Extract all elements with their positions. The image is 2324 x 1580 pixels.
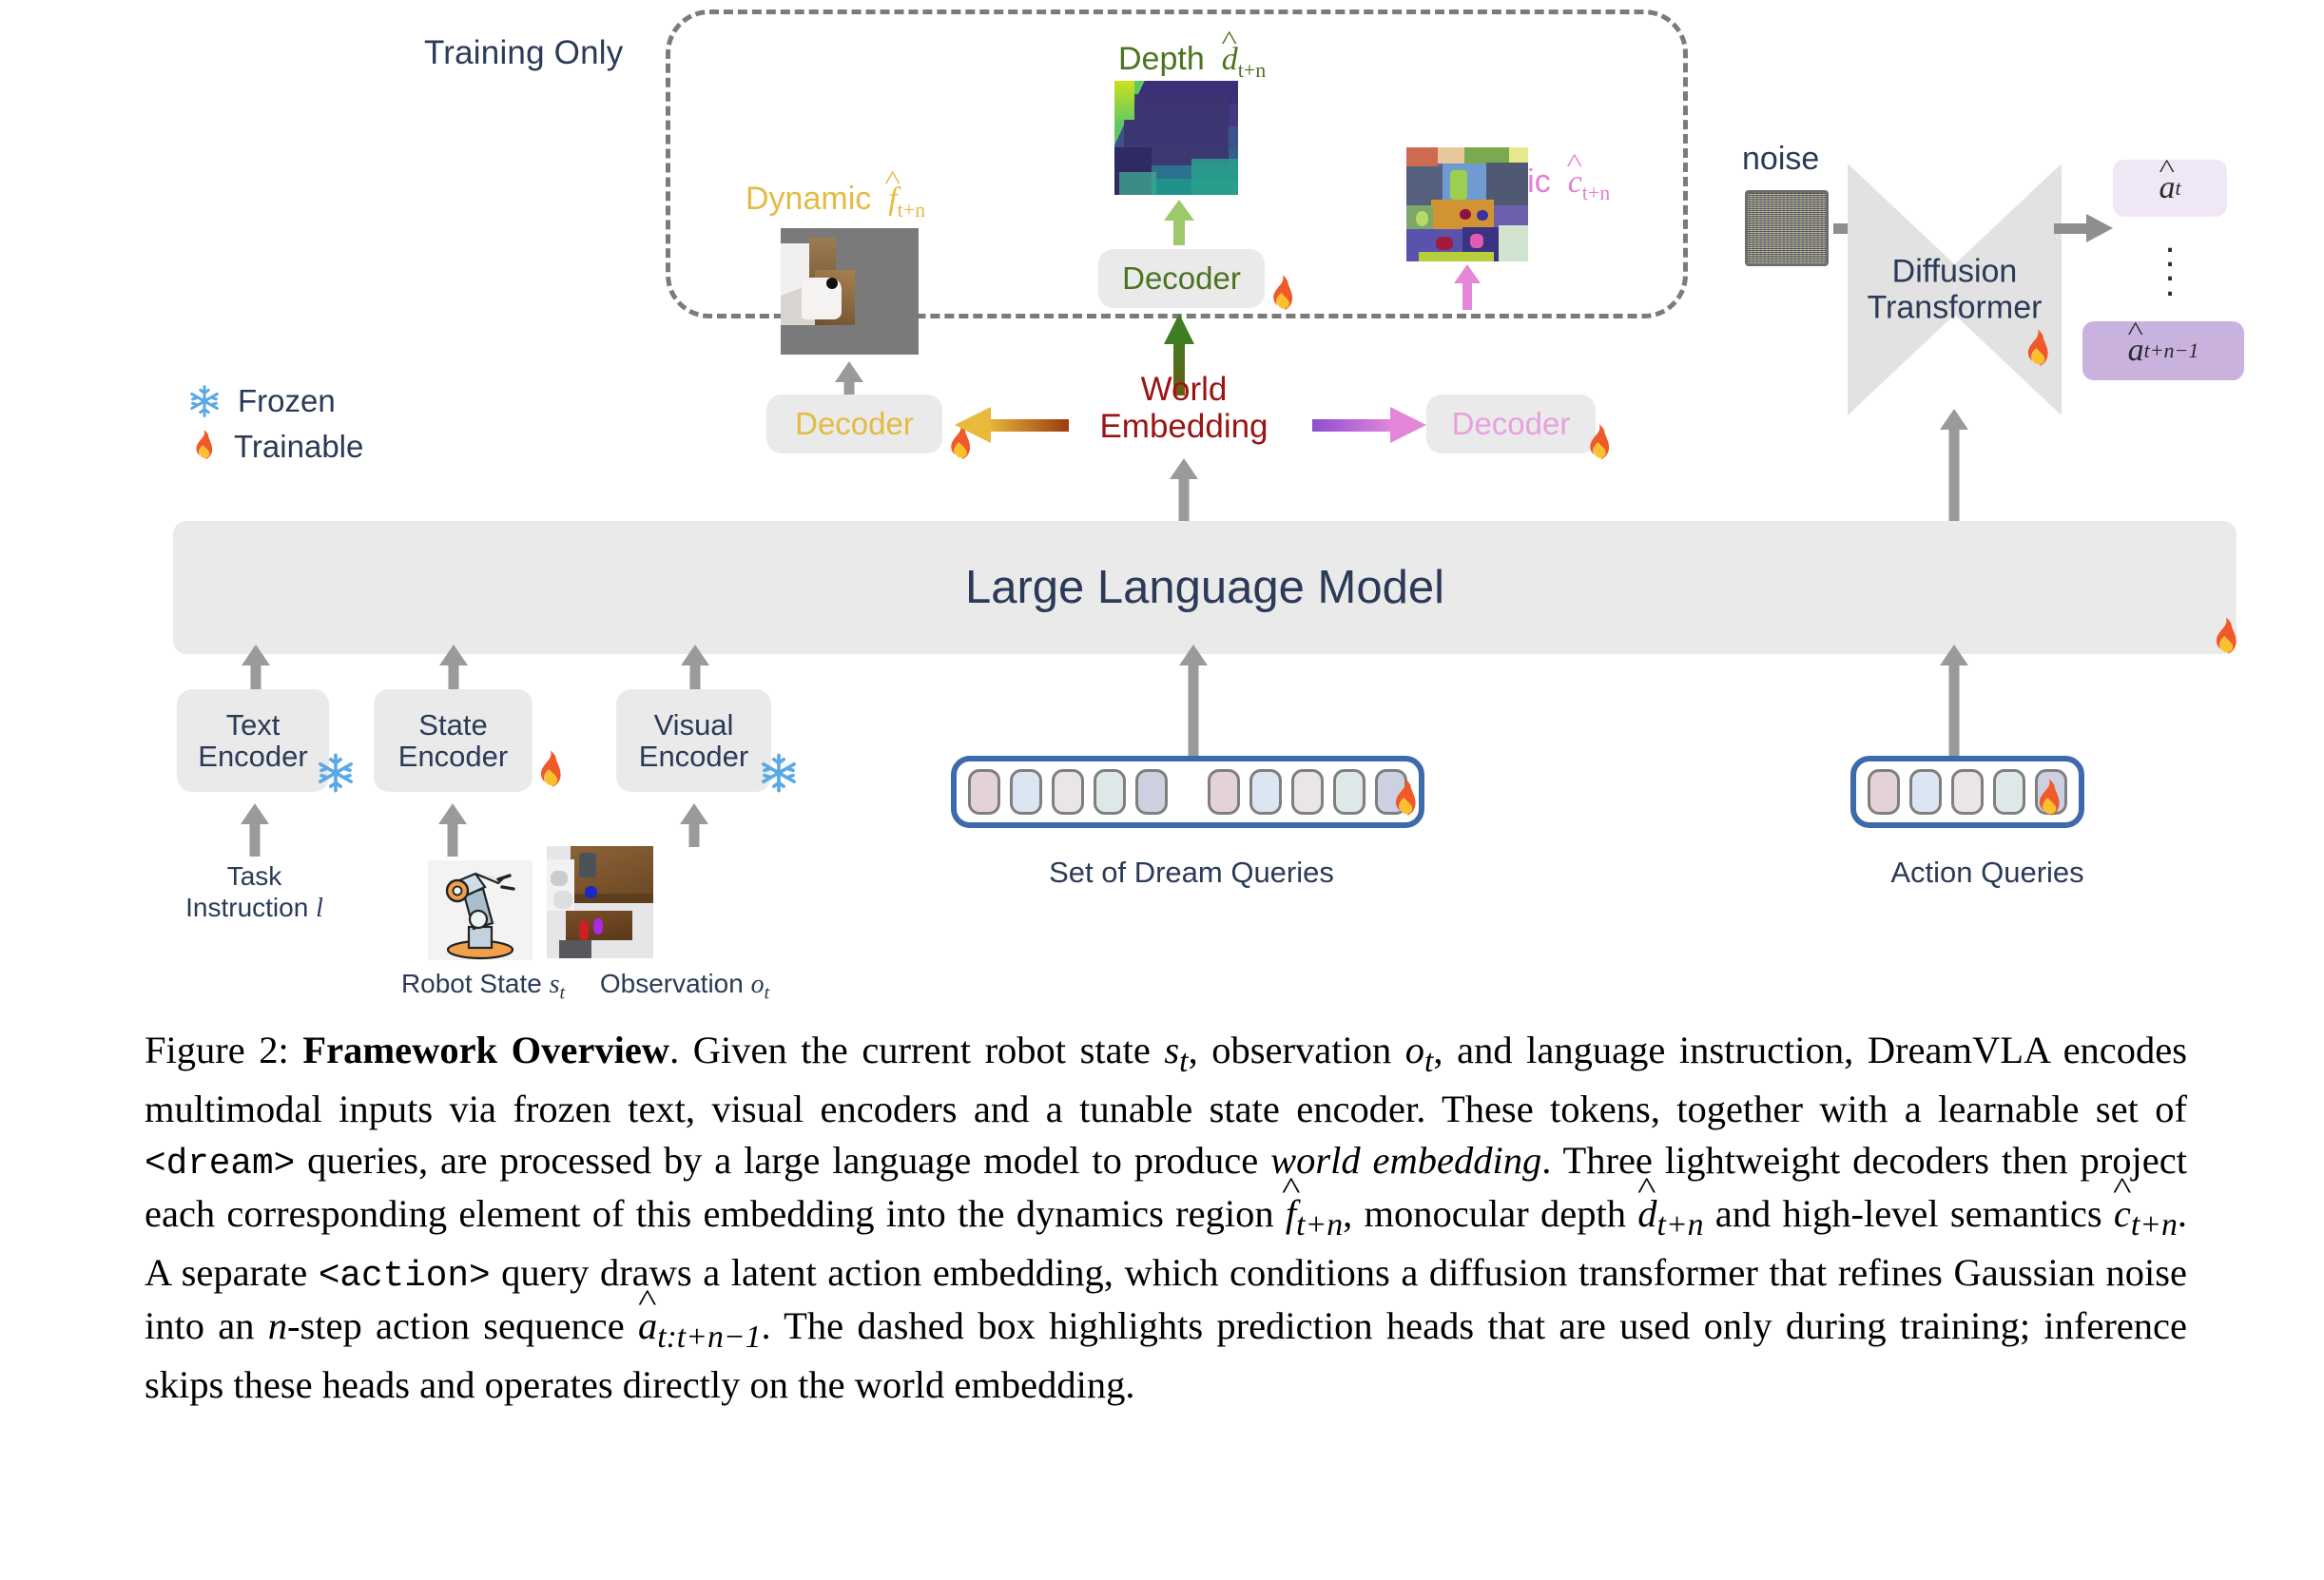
diffusion-transformer-block[interactable]: Diffusion Transformer [1848, 164, 2062, 415]
observation-label: Observation ot [571, 968, 799, 1005]
dream-token[interactable] [1291, 769, 1324, 815]
visual-encoder-box[interactable]: Visual Encoder [616, 689, 771, 792]
depth-decoder-flame-icon [1262, 274, 1300, 321]
caption-math-f: f [1286, 1188, 1296, 1240]
state-encoder-box[interactable]: State Encoder [374, 689, 533, 792]
state-encoder-line2: Encoder [398, 741, 508, 772]
depth-title-text: Depth [1118, 41, 1205, 77]
flame-icon [186, 429, 219, 465]
dream-queries-strip[interactable] [951, 756, 1424, 828]
diffusion-transformer-line1: Diffusion [1848, 253, 2062, 290]
llm-flame-icon [2204, 616, 2244, 665]
training-only-label: Training Only [424, 34, 623, 72]
arrow-dynamic-decoder-to-image [833, 361, 865, 395]
action-token[interactable] [1909, 769, 1942, 815]
semantic-prediction-image [1406, 147, 1528, 261]
dynamic-title-text: Dynamic [746, 181, 871, 217]
semantic-subscript: t+n [1582, 181, 1611, 204]
vertical-dots-icon: .... [2160, 233, 2179, 291]
task-instruction-label: Task Instruction l [152, 860, 357, 924]
dream-token[interactable] [1094, 769, 1126, 815]
depth-head-label: Depth dt+n [1118, 41, 1266, 83]
arrow-visual-encoder-to-llm [679, 645, 711, 692]
figure-caption: Figure 2: Framework Overview. Given the … [145, 1025, 2187, 1411]
caption-math-ot-sub: t [1424, 1044, 1433, 1079]
dream-token[interactable] [1249, 769, 1282, 815]
arrow-text-encoder-to-llm [240, 645, 272, 692]
arrow-dream-queries-to-llm [1177, 645, 1210, 759]
figure-canvas: Training Only Frozen [0, 0, 2324, 1580]
caption-math-ot: o [1405, 1029, 1424, 1071]
caption-body-4: queries, are processed by a large langua… [295, 1139, 1270, 1182]
action-last-symbol: a [2128, 333, 2144, 369]
arrow-depth-decoder-to-image [1162, 200, 1196, 245]
action-first-subscript: t [2175, 176, 2180, 201]
text-encoder-box[interactable]: Text Encoder [177, 689, 329, 792]
visual-encoder-line1: Visual [639, 709, 748, 741]
semantic-symbol: c [1568, 164, 1582, 201]
arrow-world-to-semantic-decoder [1312, 403, 1426, 447]
action-last-subscript: t+n−1 [2144, 338, 2199, 363]
dream-token-gap [1177, 792, 1208, 793]
caption-italic-world-embedding: world embedding [1270, 1139, 1541, 1182]
dynamic-subscript: t+n [898, 198, 926, 222]
caption-math-st-sub: t [1179, 1044, 1188, 1079]
noise-patch-icon [1745, 190, 1829, 266]
arrow-diffusion-to-actions [2054, 211, 2113, 245]
dynamic-symbol: f [888, 182, 897, 218]
arrow-semantic-decoder-to-image [1450, 264, 1484, 310]
arrow-observation-to-visual-encoder [679, 803, 709, 847]
visual-encoder-line2: Encoder [639, 741, 748, 772]
depth-symbol: d [1222, 42, 1238, 78]
text-encoder-line1: Text [198, 709, 307, 741]
arrow-state-encoder-to-llm [437, 645, 470, 692]
action-token[interactable] [1951, 769, 1984, 815]
caption-mono-action: <action> [319, 1257, 491, 1297]
caption-math-st: s [1164, 1029, 1179, 1071]
arrow-action-queries-to-llm [1938, 645, 1970, 759]
arrow-llm-to-diffusion [1938, 409, 1970, 525]
world-embedding-line2: Embedding [1065, 408, 1303, 445]
dream-queries-flame-icon [1384, 778, 1423, 827]
arrow-task-to-text-encoder [240, 803, 270, 857]
visual-encoder-snowflake-icon [757, 751, 801, 800]
dream-token[interactable] [1135, 769, 1168, 815]
caption-math-c: c [2114, 1188, 2131, 1240]
task-instruction-symbol: l [316, 894, 323, 923]
dynamic-decoder-box[interactable]: Decoder [766, 395, 942, 453]
action-queries-flame-icon [2027, 778, 2067, 827]
caption-bold-title: Framework Overview [302, 1029, 669, 1071]
task-instruction-line2: Instruction [185, 893, 308, 922]
large-language-model-block[interactable]: Large Language Model [173, 521, 2237, 654]
caption-body-6: , monocular depth [1343, 1192, 1637, 1235]
diffusion-transformer-line2: Transformer [1848, 290, 2062, 327]
observation-text: Observation [600, 969, 744, 998]
llm-label: Large Language Model [965, 563, 1444, 613]
arrow-robot-state-to-state-encoder [437, 803, 468, 857]
caption-math-c-sub: t+n [2131, 1207, 2178, 1243]
noise-label: noise [1742, 141, 1819, 178]
legend: Frozen Trainable [186, 378, 363, 470]
world-embedding-line1: World [1065, 371, 1303, 408]
dream-queries-caption: Set of Dream Queries [949, 856, 1434, 890]
state-encoder-flame-icon [529, 749, 569, 799]
legend-row-trainable: Trainable [186, 424, 363, 470]
caption-math-d-sub: t+n [1656, 1207, 1703, 1243]
caption-math-a: a [638, 1301, 657, 1352]
caption-prefix: Figure 2: [145, 1029, 289, 1071]
robot-state-symbol: s [550, 970, 560, 999]
dream-token[interactable] [1333, 769, 1365, 815]
robot-arm-icon [428, 860, 533, 960]
legend-label-frozen: Frozen [238, 383, 336, 419]
caption-math-f-sub: t+n [1296, 1207, 1343, 1243]
depth-prediction-image [1114, 81, 1238, 195]
semantic-decoder-box[interactable]: Decoder [1426, 395, 1596, 453]
action-output-first: at [2113, 160, 2227, 217]
arrow-llm-to-world-embedding [1168, 458, 1200, 523]
dream-token[interactable] [1208, 769, 1240, 815]
action-first-symbol: a [2159, 170, 2175, 206]
depth-decoder-label: Decoder [1122, 261, 1241, 296]
task-instruction-line1: Task [152, 860, 357, 892]
text-encoder-snowflake-icon [314, 751, 358, 800]
action-token[interactable] [1868, 769, 1900, 815]
world-embedding-label: World Embedding [1065, 371, 1303, 445]
robot-state-label: Robot State st [374, 968, 592, 1005]
action-token[interactable] [1993, 769, 2025, 815]
arrow-world-to-dynamic-decoder [955, 403, 1069, 447]
action-queries-caption: Action Queries [1835, 856, 2140, 890]
semantic-decoder-label: Decoder [1452, 407, 1571, 441]
caption-body-7: and high-level semantics [1703, 1192, 2113, 1235]
dynamic-head-label: Dynamic ft+n [746, 181, 925, 222]
dream-token[interactable] [1010, 769, 1042, 815]
depth-decoder-box[interactable]: Decoder [1098, 249, 1265, 308]
snowflake-icon [186, 383, 223, 419]
dynamic-decoder-label: Decoder [795, 407, 914, 441]
text-encoder-line2: Encoder [198, 741, 307, 772]
caption-body-10: -step action sequence [287, 1304, 638, 1347]
observation-image [547, 846, 653, 958]
caption-body-2: , observation [1189, 1029, 1405, 1071]
robot-state-subscript: t [560, 983, 566, 1004]
caption-math-n: n [268, 1304, 287, 1347]
caption-math-d: d [1637, 1188, 1656, 1240]
dynamic-prediction-image [781, 228, 919, 355]
caption-body-1: . Given the current robot state [669, 1029, 1164, 1071]
action-output-last: at+n−1 [2082, 321, 2244, 380]
caption-mono-dream: <dream> [145, 1145, 295, 1185]
semantic-decoder-flame-icon [1578, 423, 1617, 471]
robot-state-text: Robot State [401, 969, 542, 998]
observation-symbol: o [751, 970, 765, 999]
observation-subscript: t [765, 983, 770, 1004]
diffusion-transformer-flame-icon [2016, 328, 2056, 377]
legend-row-frozen: Frozen [186, 378, 363, 424]
dream-token[interactable] [1052, 769, 1084, 815]
legend-label-trainable: Trainable [234, 429, 363, 465]
state-encoder-line1: State [398, 709, 508, 741]
dream-token[interactable] [968, 769, 1000, 815]
depth-subscript: t+n [1238, 58, 1267, 82]
caption-math-a-sub: t:t+n−1 [657, 1320, 761, 1355]
